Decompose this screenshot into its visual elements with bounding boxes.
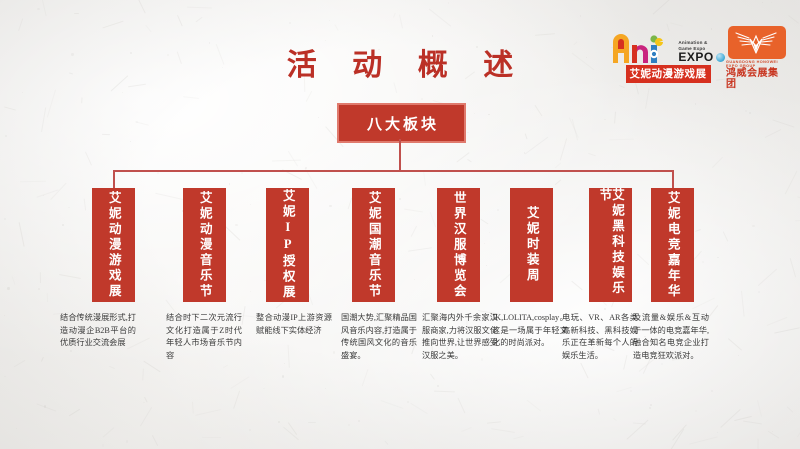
node-fashion-week[interactable]: 艾妮时装周 — [510, 188, 553, 302]
root-node[interactable]: 八大板块 — [337, 103, 466, 143]
aniexpo-mark-icon — [611, 33, 675, 63]
node-world-hanfu-expo[interactable]: 世界汉服博览会 — [437, 188, 480, 302]
description-fashion-week: JK,LOLITA,cosplay。这是一场属于年轻文化的时尚派对。 — [492, 312, 568, 350]
node-esports-carnival[interactable]: 艾妮电竞嘉年华 — [651, 188, 694, 302]
connector-drop-left — [113, 170, 115, 188]
description-ip-licensing-expo: 整合动漫IP上游资源赋能线下实体经济 — [256, 312, 332, 337]
node-guochao-music-festival[interactable]: 艾妮国潮音乐节 — [352, 188, 395, 302]
aniexpo-logo: Animation & Game Expo EXPO 艾妮动漫游戏展 — [618, 33, 718, 83]
node-anime-music-festival[interactable]: 艾妮动漫音乐节 — [183, 188, 226, 302]
node-anime-game-expo[interactable]: 艾妮动漫游戏展 — [92, 188, 135, 302]
description-guochao-music-festival: 国潮大势,汇聚精品国风音乐内容,打造属于传统国风文化的音乐盛宴。 — [341, 312, 417, 362]
hongwei-en-text: GUANGDONG HONGWEI EXPO GROUP — [726, 60, 788, 68]
description-world-hanfu-expo: 汇聚海内外千余家汉服商家,力将汉服文化推向世界,让世界感受汉服之美。 — [422, 312, 498, 362]
connector-stem — [399, 139, 401, 171]
node-row: 艾妮动漫游戏展艾妮动漫音乐节艾妮IP授权展艾妮国潮音乐节世界汉服博览会艾妮时装周… — [0, 188, 800, 303]
description-black-tech-entertainment: 电玩、VR、AR各类高新科技、黑科技娱乐正在革新每个人的娱乐生活。 — [562, 312, 638, 362]
logo-group: Animation & Game Expo EXPO 艾妮动漫游戏展 — [618, 26, 788, 90]
aniexpo-globe-icon — [716, 53, 725, 62]
slide-canvas: 活 动 概 述 — [0, 0, 800, 449]
connector-drop-right — [672, 170, 674, 188]
node-ip-licensing-expo[interactable]: 艾妮IP授权展 — [266, 188, 309, 302]
hongwei-logo: GUANGDONG HONGWEI EXPO GROUP 鸿威会展集团 — [726, 26, 788, 90]
description-anime-game-expo: 结合传统漫展形式,打造动漫企B2B平台的优质行业交流会展 — [60, 312, 136, 350]
description-anime-music-festival: 结合时下二次元流行文化打造属于Z时代年轻人市场音乐节内容 — [166, 312, 242, 362]
connector-rail — [113, 170, 673, 172]
description-esports-carnival: 及流量&娱乐&互动于一体的电竞嘉年华,融合知名电竞企业打造电竞狂欢派对。 — [633, 312, 709, 362]
aniexpo-expo-text: EXPO — [678, 51, 713, 63]
hongwei-cn-text: 鸿威会展集团 — [726, 68, 788, 90]
aniexpo-wordmark: 艾妮动漫游戏展 — [626, 65, 711, 83]
node-black-tech-entertainment[interactable]: 艾妮黑科技娱乐节 — [589, 188, 632, 302]
wings-w-icon — [732, 30, 782, 56]
description-row: 结合传统漫展形式,打造动漫企B2B平台的优质行业交流会展结合时下二次元流行文化打… — [0, 312, 800, 412]
